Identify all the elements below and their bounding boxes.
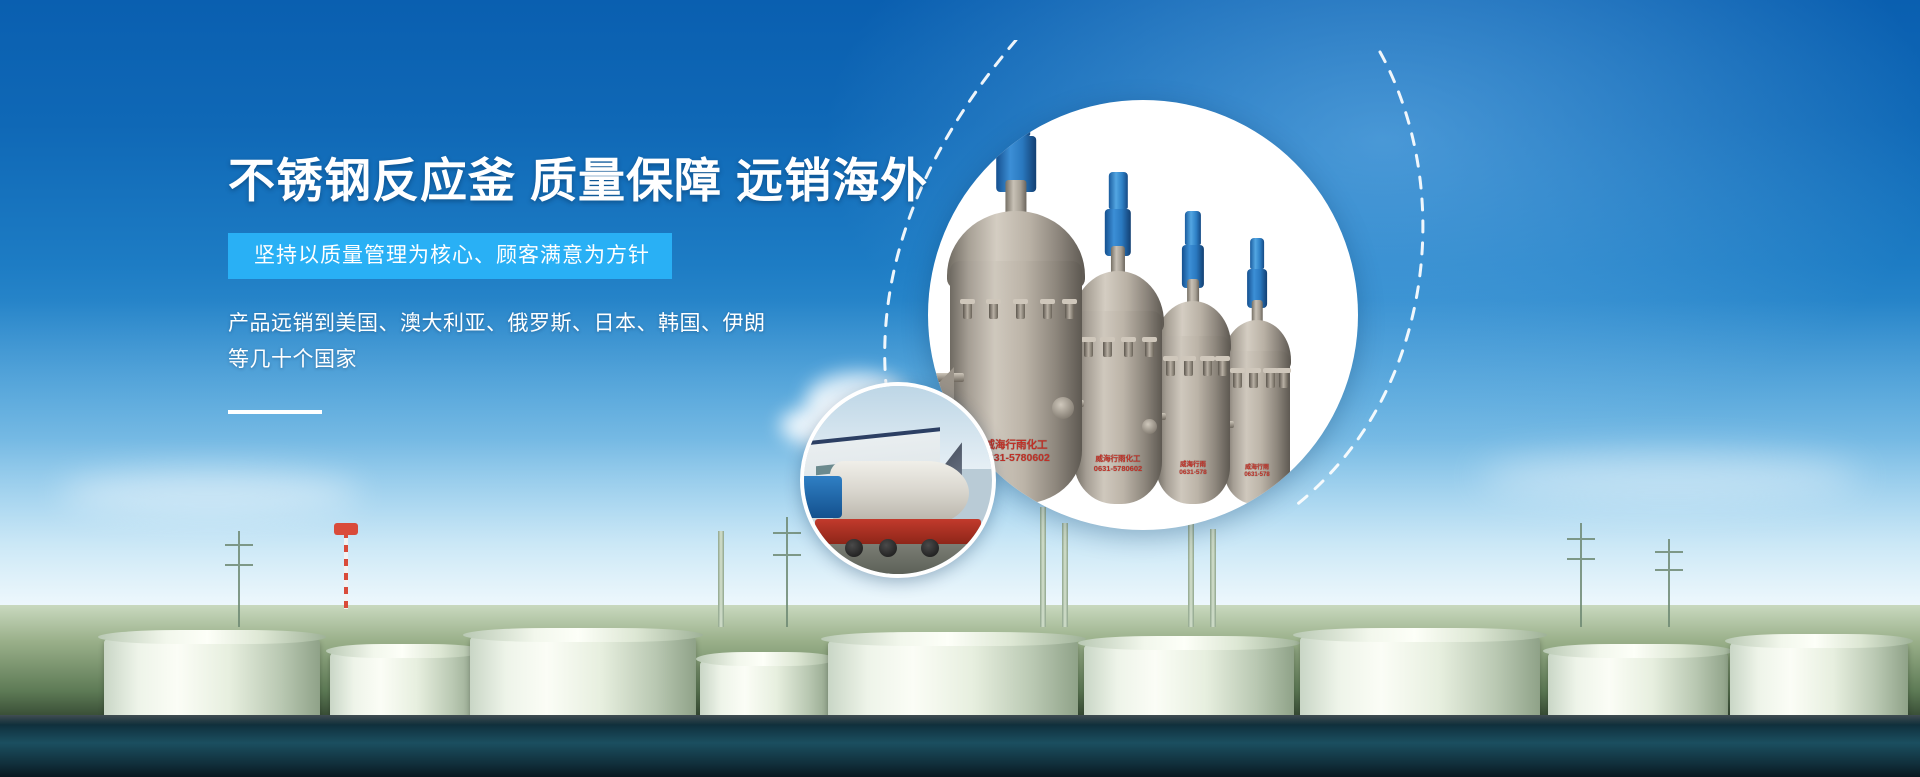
reactor-body: 威海行雨化工 0631-5780602 bbox=[1074, 311, 1162, 504]
storage-tank bbox=[104, 639, 320, 727]
power-pylon bbox=[786, 517, 788, 627]
transport-vessel bbox=[830, 461, 969, 525]
nozzle-cluster bbox=[1229, 373, 1284, 388]
power-pylon bbox=[1580, 523, 1582, 627]
reactor-body: 威海行雨 0631-578 bbox=[1224, 351, 1290, 504]
cloud bbox=[1480, 452, 1860, 502]
nozzle-cluster bbox=[1162, 359, 1224, 376]
storage-tank bbox=[470, 637, 696, 727]
chimney-stack bbox=[1062, 523, 1068, 627]
brand-name: 威海行雨化工 bbox=[1074, 454, 1162, 463]
radio-mast bbox=[344, 531, 348, 609]
side-flange bbox=[1142, 419, 1157, 434]
description: 产品远销到美国、澳大利亚、俄罗斯、日本、韩国、伊朗 等几十个国家 bbox=[228, 306, 948, 378]
reactor-unit: 威海行雨 0631-578 bbox=[1156, 288, 1230, 504]
chimney-stack bbox=[718, 531, 724, 627]
banner-copy: 不锈钢反应釜 质量保障 远销海外 坚持以质量管理为核心、顾客满意为方针 产品远销… bbox=[228, 155, 948, 414]
power-pylon bbox=[1668, 539, 1670, 627]
power-pylon bbox=[238, 531, 240, 627]
nozzle-cluster bbox=[961, 295, 1072, 319]
chimney-stack bbox=[1210, 529, 1216, 627]
brand-phone: 0631-5780602 bbox=[1074, 464, 1162, 473]
brand-phone: 0631-578 bbox=[1156, 469, 1230, 477]
nozzle-cluster bbox=[1081, 338, 1155, 357]
storage-tank bbox=[1300, 637, 1540, 727]
cloud bbox=[60, 470, 360, 516]
reactor-unit: 威海行雨化工 0631-5780602 bbox=[1074, 256, 1162, 504]
divider-rule bbox=[228, 410, 322, 414]
brand-phone: 0631-578 bbox=[1224, 472, 1290, 480]
reactor-brand-text: 威海行雨 0631-578 bbox=[1156, 461, 1230, 477]
subtitle-bar: 坚持以质量管理为核心、顾客满意为方针 bbox=[228, 233, 672, 279]
vessel-motor-icon bbox=[800, 476, 841, 517]
reactor-unit: 威海行雨 0631-578 bbox=[1224, 308, 1290, 504]
headline: 不锈钢反应釜 质量保障 远销海外 bbox=[228, 155, 948, 207]
side-flange bbox=[1052, 397, 1074, 419]
waterfront bbox=[0, 715, 1920, 777]
reactor-body: 威海行雨 0631-578 bbox=[1156, 336, 1230, 504]
brand-name: 威海行雨 bbox=[1156, 461, 1230, 469]
reactor-brand-text: 威海行雨化工 0631-5780602 bbox=[1074, 454, 1162, 473]
hero-banner: 威海行雨 0631-578 威海行雨 0631-578 bbox=[0, 0, 1920, 777]
description-line-1: 产品远销到美国、澳大利亚、俄罗斯、日本、韩国、伊朗 bbox=[228, 306, 948, 342]
reactor-brand-text: 威海行雨 0631-578 bbox=[1224, 465, 1290, 480]
truck-bed bbox=[815, 519, 980, 543]
brand-name: 威海行雨 bbox=[1224, 465, 1290, 473]
description-line-2: 等几十个国家 bbox=[228, 342, 948, 378]
